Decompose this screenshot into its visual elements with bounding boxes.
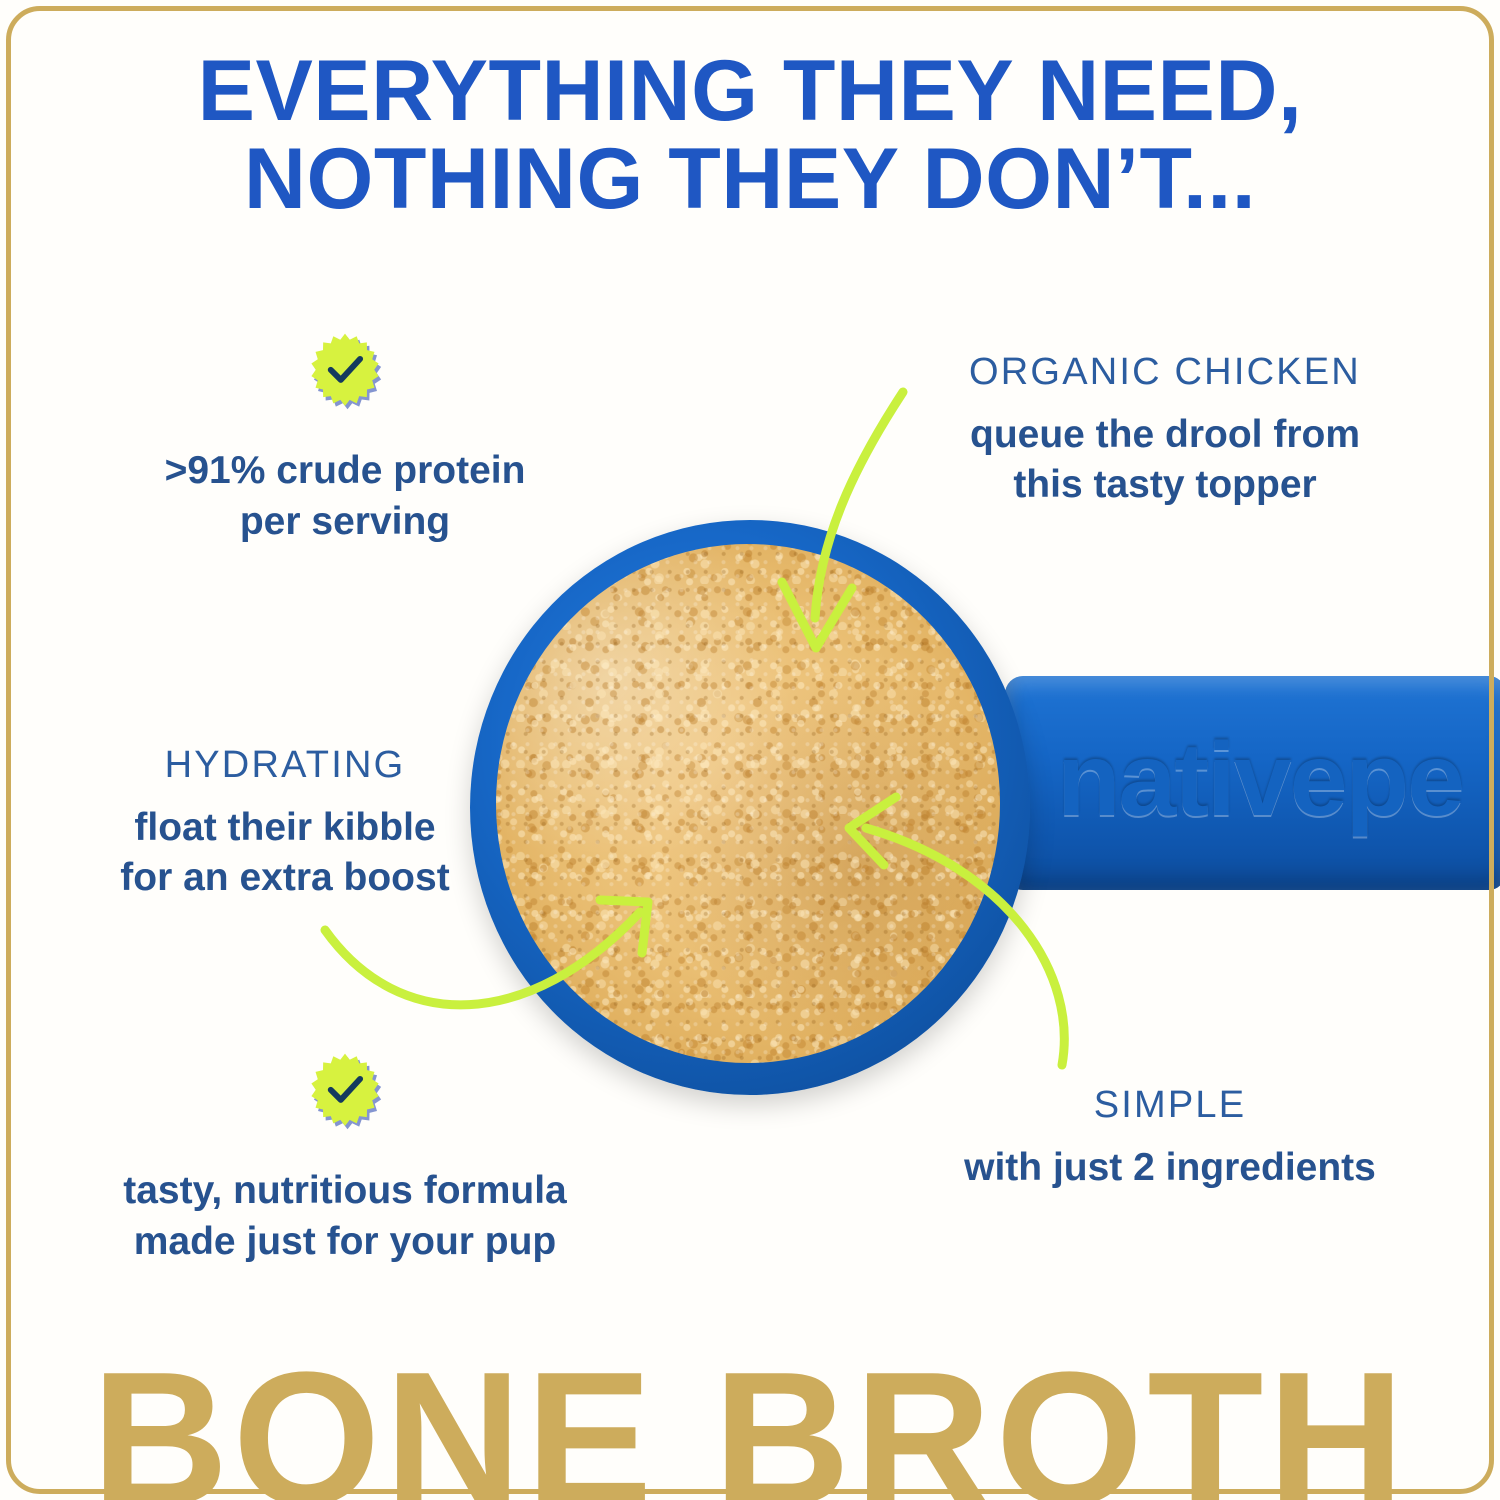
check-starburst-badge-icon — [303, 1052, 387, 1136]
callout-organic-chicken: ORGANIC CHICKEN queue the drool from thi… — [920, 352, 1410, 510]
bone-broth-powder — [496, 544, 1000, 1063]
arrow-organic-chicken-head — [782, 582, 852, 648]
arrow-organic-chicken-stroke — [815, 392, 903, 618]
callout-formula-line-1: tasty, nutritious formula — [105, 1166, 585, 1217]
callout-formula: tasty, nutritious formula made just for … — [105, 1052, 585, 1267]
callout-hydrating: HYDRATING float their kibble for an extr… — [55, 745, 515, 903]
callout-organic-chicken-body: queue the drool from this tasty topper — [920, 410, 1410, 510]
callout-simple-line-1: with just 2 ingredients — [945, 1143, 1395, 1193]
callout-hydrating-line-1: float their kibble — [55, 803, 515, 853]
scoop-handle-brand-text: nativepe — [1057, 728, 1463, 832]
infographic-canvas: nativepe EVERYTHING THEY NEED, NOTHING T… — [0, 0, 1500, 1500]
callout-organic-chicken-line-1: queue the drool from — [920, 410, 1410, 460]
callout-simple: SIMPLE with just 2 ingredients — [945, 1085, 1395, 1193]
callout-simple-kicker: SIMPLE — [945, 1085, 1395, 1127]
check-starburst-badge-icon — [303, 332, 387, 416]
callout-organic-chicken-kicker: ORGANIC CHICKEN — [920, 352, 1410, 394]
headline-line-2: NOTHING THEY DON’T... — [0, 136, 1500, 224]
callout-protein-body: >91% crude protein per serving — [115, 446, 575, 547]
callout-hydrating-line-2: for an extra boost — [55, 853, 515, 903]
arrow-hydrating-stroke — [325, 912, 640, 1005]
scoop-bowl — [470, 520, 1030, 1095]
headline-line-1: EVERYTHING THEY NEED, — [198, 43, 1303, 139]
arrow-hydrating-head — [600, 900, 648, 953]
page-title: EVERYTHING THEY NEED, NOTHING THEY DON’T… — [0, 48, 1500, 223]
callout-protein-line-2: per serving — [115, 497, 575, 548]
arrow-simple-stroke — [866, 828, 1064, 1065]
callout-hydrating-body: float their kibble for an extra boost — [55, 803, 515, 903]
callout-protein: >91% crude protein per serving — [115, 332, 575, 547]
arrow-simple-head — [849, 797, 896, 865]
brand-word-bone-broth: BONE BROTH — [0, 1344, 1500, 1500]
callout-hydrating-kicker: HYDRATING — [55, 745, 515, 787]
callout-protein-line-1: >91% crude protein — [115, 446, 575, 497]
callout-organic-chicken-line-2: this tasty topper — [920, 460, 1410, 510]
callout-simple-body: with just 2 ingredients — [945, 1143, 1395, 1193]
scoop-handle: nativepe — [1005, 676, 1500, 890]
callout-formula-body: tasty, nutritious formula made just for … — [105, 1166, 585, 1267]
callout-formula-line-2: made just for your pup — [105, 1217, 585, 1268]
